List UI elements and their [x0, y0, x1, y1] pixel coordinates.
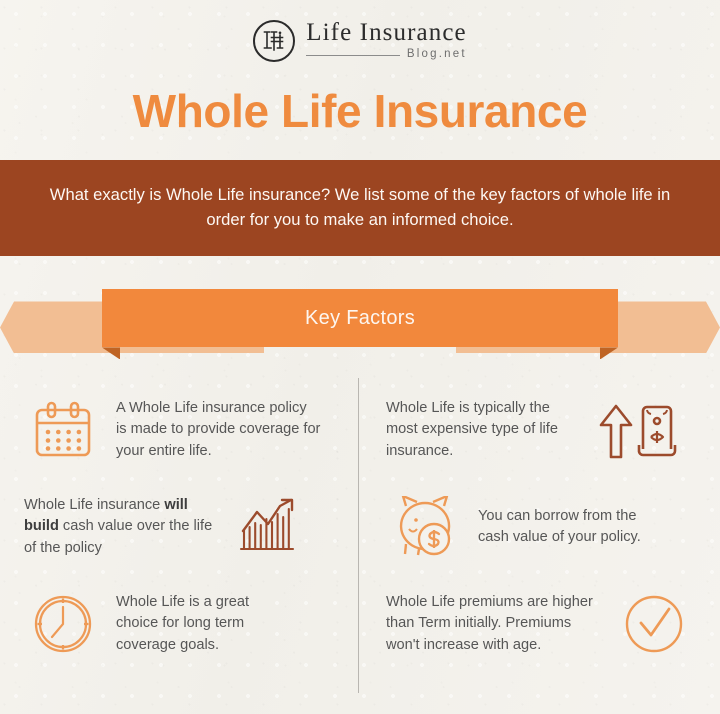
- brand-rule: [306, 55, 400, 56]
- growth-chart-icon: [228, 497, 306, 557]
- ribbon-label: Key Factors: [305, 307, 415, 330]
- factor-text-part: Whole Life insurance: [24, 497, 164, 513]
- infographic-root: Life Insurance Blog.net Whole Life Insur…: [0, 0, 720, 714]
- factor-text: A Whole Life insurance policy is made to…: [116, 398, 321, 462]
- key-factors-ribbon: Key Factors: [0, 289, 720, 365]
- factor-item: Whole Life is typically the most expensi…: [386, 381, 698, 478]
- factor-text: You can borrow from the cash value of yo…: [478, 506, 663, 549]
- brand-subtitle: Blog.net: [407, 49, 467, 61]
- factor-text: Whole Life is typically the most expensi…: [386, 398, 576, 462]
- brand-title: Life Insurance: [306, 20, 466, 45]
- brand-wordmark: Life Insurance Blog.net: [306, 20, 466, 61]
- factor-item: Whole Life premiums are higher than Term…: [386, 575, 698, 672]
- factor-text: Whole Life is a great choice for long te…: [116, 592, 276, 656]
- brand-logo[interactable]: Life Insurance Blog.net: [0, 0, 720, 62]
- factors-grid: A Whole Life insurance policy is made to…: [0, 373, 720, 693]
- page-title: Whole Life Insurance: [0, 84, 720, 138]
- ribbon-fold-left: [102, 347, 120, 359]
- factor-item: Whole Life insurance will build cash val…: [24, 478, 342, 575]
- arrow-up-banknote-icon: [590, 399, 682, 461]
- factor-item: You can borrow from the cash value of yo…: [386, 478, 698, 575]
- factor-text: Whole Life premiums are higher than Term…: [386, 592, 601, 656]
- factor-item: Whole Life is a great choice for long te…: [24, 575, 342, 672]
- check-circle-icon: [615, 593, 693, 655]
- calendar-icon: [24, 400, 102, 460]
- description-text: What exactly is Whole Life insurance? We…: [46, 182, 674, 232]
- factors-column-right: Whole Life is typically the most expensi…: [360, 373, 720, 693]
- clock-icon: [24, 593, 102, 655]
- life-insurance-blog-monogram-icon: [253, 20, 295, 62]
- factor-text: Whole Life insurance will build cash val…: [24, 495, 214, 559]
- factor-item: A Whole Life insurance policy is made to…: [24, 381, 342, 478]
- factors-column-left: A Whole Life insurance policy is made to…: [0, 373, 360, 693]
- ribbon-fold-right: [600, 347, 618, 359]
- description-band: What exactly is Whole Life insurance? We…: [0, 160, 720, 256]
- column-divider: [358, 378, 359, 693]
- ribbon-center: Key Factors: [102, 289, 618, 347]
- piggy-bank-icon: [386, 496, 464, 558]
- brand-subtitle-row: Blog.net: [306, 49, 466, 61]
